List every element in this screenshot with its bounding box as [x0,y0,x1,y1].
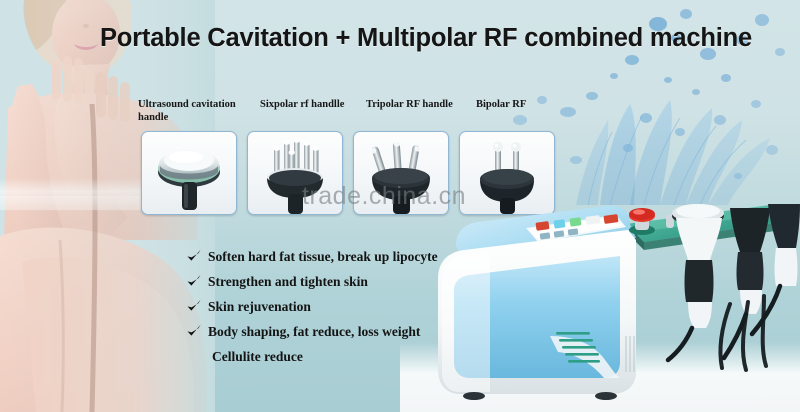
feature-text: Cellulite reduce [212,349,303,365]
feature-item: Body shaping, fat reduce, loss weight [186,322,486,347]
product-banner: Portable Cavitation + Multipolar RF comb… [0,0,800,412]
feature-item: Soften hard fat tissue, break up lipocyt… [186,247,486,272]
page-title: Portable Cavitation + Multipolar RF comb… [100,24,760,53]
feature-item: Cellulite reduce [186,347,486,372]
handle-label-sixpolar: Sixpolar rf handlle [260,98,360,111]
feature-item: Skin rejuvenation [186,297,486,322]
check-icon [186,323,202,339]
feature-text: Soften hard fat tissue, break up lipocyt… [208,249,438,265]
feature-text: Body shaping, fat reduce, loss weight [208,324,420,340]
handle-label-tripolar: Tripolar RF handle [366,98,470,111]
check-icon [186,273,202,289]
check-icon [186,248,202,264]
handle-thumbnail-ultrasound [141,131,237,215]
handle-labels: Ultrasound cavitation handle Sixpolar rf… [138,98,698,132]
handle-label-ultrasound: Ultrasound cavitation handle [138,98,250,124]
feature-list: Soften hard fat tissue, break up lipocyt… [186,247,486,372]
feature-text: Strengthen and tighten skin [208,274,368,290]
feature-item: Strengthen and tighten skin [186,272,486,297]
handle-label-bipolar: Bipolar RF [476,98,556,111]
handle-thumbnail-sixpolar [247,131,343,215]
feature-text: Skin rejuvenation [208,299,311,315]
check-icon [186,298,202,314]
